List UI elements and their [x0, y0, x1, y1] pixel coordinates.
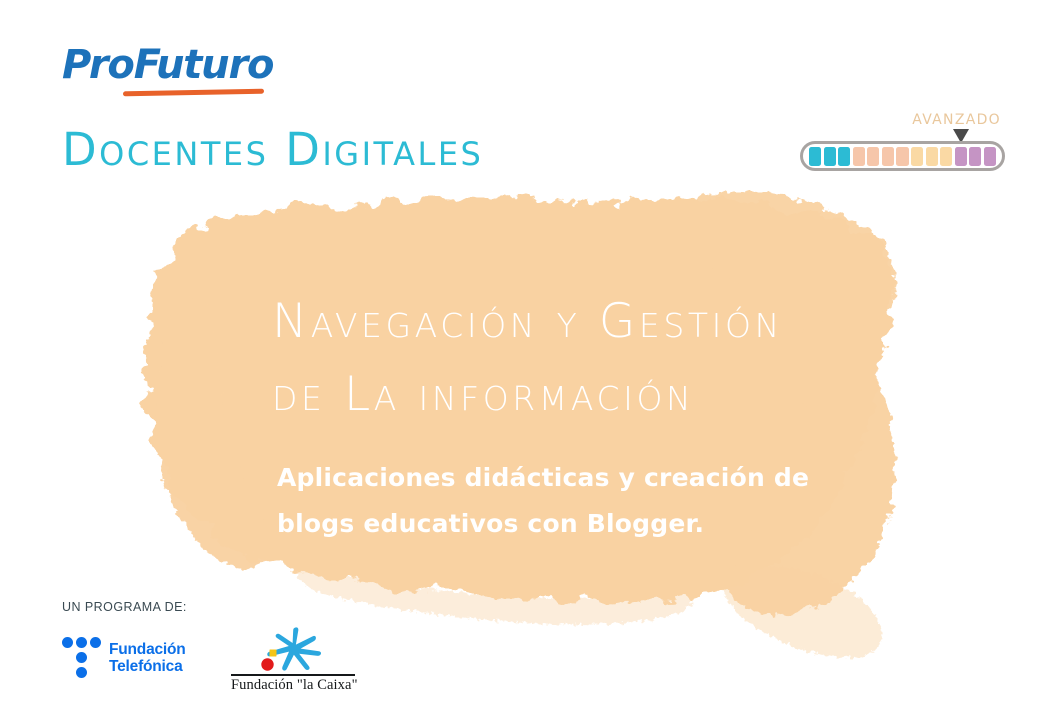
la-caixa-star-icon [255, 626, 329, 672]
subtitle-line-2: blogs educativos con Blogger. [277, 501, 927, 547]
level-segment-10 [940, 147, 952, 166]
footer: UN PROGRAMA DE: Fundación Telefónica [62, 600, 482, 710]
headline-line-2: de La información [272, 358, 912, 431]
level-indicator: Avanzado [795, 112, 1010, 174]
profuturo-logo: ProFuturo [62, 43, 292, 105]
level-segment-7 [896, 147, 908, 166]
profuturo-underline-stroke [123, 89, 264, 97]
la-caixa-divider-rule [231, 674, 355, 676]
level-segment-12 [969, 147, 981, 166]
level-segment-8 [911, 147, 923, 166]
level-segment-13 [984, 147, 996, 166]
subtitle-line-1: Aplicaciones didácticas y creación de [277, 455, 927, 501]
la-caixa-wordmark: Fundación "la Caixa" [231, 677, 355, 694]
course-subtitle: Aplicaciones didácticas y creación de bl… [277, 455, 927, 547]
course-headline: Navegación y Gestión de La información [272, 285, 912, 431]
level-label: Avanzado [912, 112, 1001, 128]
level-segment-1 [809, 147, 821, 166]
telefonica-dots-icon [62, 635, 102, 681]
footer-kicker: UN PROGRAMA DE: [62, 600, 482, 614]
headline-line-1: Navegación y Gestión [272, 285, 912, 358]
level-segment-4 [853, 147, 865, 166]
telefonica-line-1: Fundación [109, 641, 186, 658]
level-progress-track [800, 141, 1005, 171]
telefonica-wordmark: Fundación Telefónica [109, 641, 186, 675]
level-segment-9 [926, 147, 938, 166]
telefonica-line-2: Telefónica [109, 658, 186, 675]
fundacion-telefonica-logo: Fundación Telefónica [62, 632, 198, 684]
fundacion-la-caixa-logo: Fundación "la Caixa" [231, 626, 355, 694]
page-title: Docentes Digitales [62, 125, 483, 175]
level-segment-6 [882, 147, 894, 166]
level-segment-3 [838, 147, 850, 166]
level-segment-11 [955, 147, 967, 166]
sponsor-logos: Fundación Telefónica Fundación "la Caixa… [62, 632, 355, 694]
level-segment-5 [867, 147, 879, 166]
profuturo-wordmark: ProFuturo [62, 43, 292, 87]
level-segment-2 [824, 147, 836, 166]
